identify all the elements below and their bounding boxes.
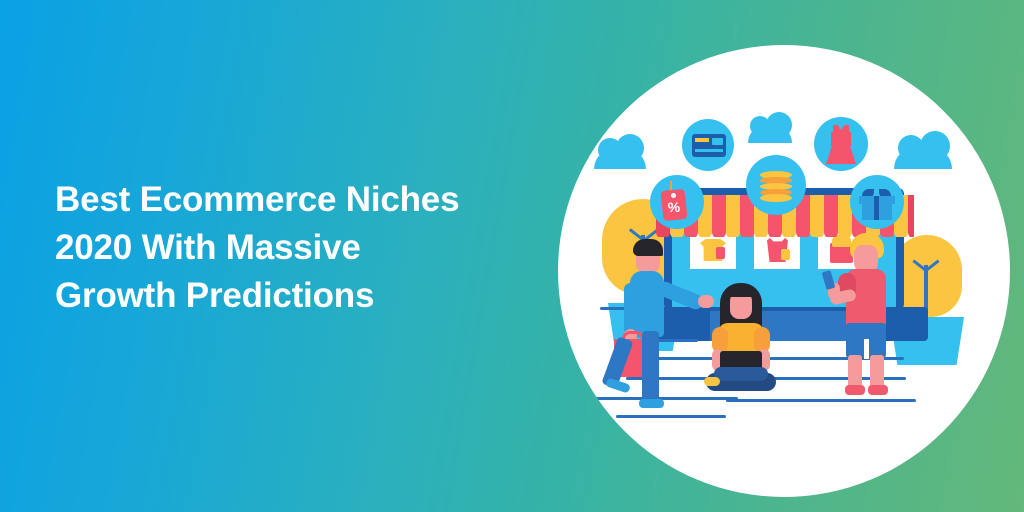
headline-line-3: Growth Predictions: [55, 272, 555, 320]
gift-badge[interactable]: [850, 175, 904, 229]
dress-badge[interactable]: [814, 117, 868, 171]
cloud-top-center-icon: [748, 125, 792, 143]
headline-line-2: 2020 With Massive: [55, 224, 555, 272]
illustration-disc: %: [558, 45, 1010, 497]
discount-tag-label: %: [662, 199, 686, 215]
ecommerce-illustration: %: [558, 45, 1010, 497]
shopper-seated-laptop: [698, 283, 784, 395]
ground-line-9: [616, 415, 726, 418]
discount-tag-badge[interactable]: %: [650, 175, 704, 229]
shopper-walking-left: [606, 231, 712, 411]
headline-line-1: Best Ecommerce Niches: [55, 176, 555, 224]
shopper-phone-right: [830, 233, 906, 401]
coins-badge[interactable]: [746, 155, 806, 215]
cloud-far-left-icon: [594, 149, 646, 169]
page-title: Best Ecommerce Niches 2020 With Massive …: [55, 176, 555, 320]
credit-card-badge[interactable]: [682, 119, 734, 171]
cloud-top-right-icon: [894, 147, 952, 169]
banner-root: Best Ecommerce Niches 2020 With Massive …: [0, 0, 1024, 512]
